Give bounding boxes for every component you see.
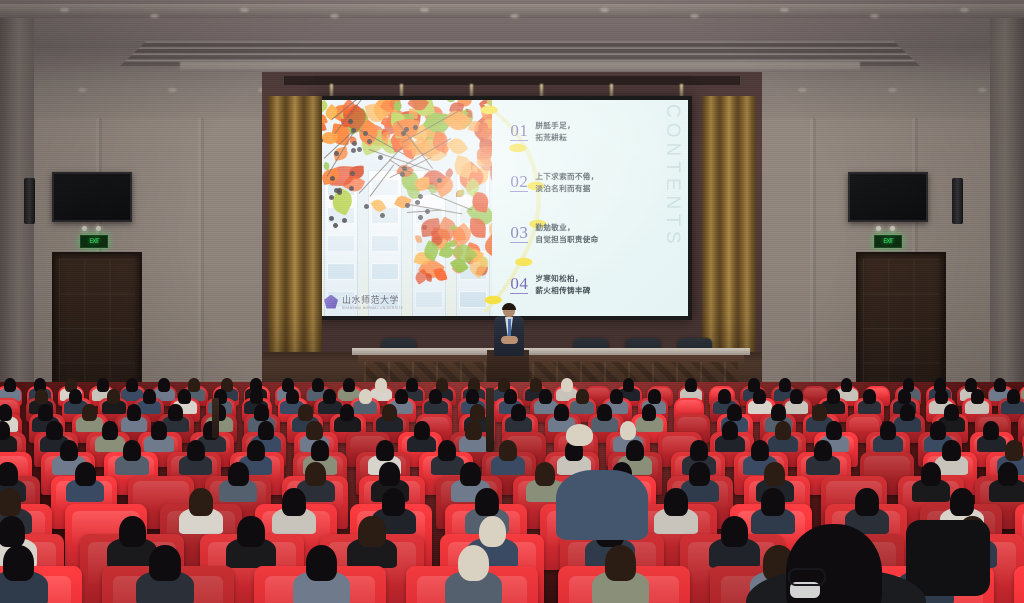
audience-person [343, 378, 355, 392]
exit-sign-right: EXIT [874, 235, 902, 248]
slide-berry [380, 213, 385, 218]
audience-person [143, 389, 156, 404]
agenda-item-01: 01胼胝手足， 拓荒耕耘 [510, 120, 662, 144]
audience-person [998, 462, 1019, 486]
audience-person [306, 545, 337, 581]
speaker-tie [508, 319, 511, 337]
audience-person [898, 389, 911, 404]
slide-berry [351, 128, 356, 133]
slide-building-window [416, 292, 442, 307]
slide-berry [402, 166, 407, 171]
slide-berry [351, 148, 356, 153]
wall-pilaster-right [990, 18, 1024, 430]
audience-person [38, 404, 53, 421]
slide-agenda-list: 01胼胝手足， 拓荒耕耘02上下求索而不倦， 淡泊名利而有据03勤勉敬业， 自觉… [510, 106, 662, 310]
audience-person [753, 389, 766, 404]
slide-berry [329, 216, 334, 221]
ceiling-downlight [780, 8, 789, 12]
audience-person [3, 545, 34, 581]
audience-person [827, 389, 840, 404]
audience-person [395, 389, 408, 404]
audience-person [189, 488, 213, 516]
agenda-number: 02 [510, 173, 528, 192]
eyeglasses-icon [788, 568, 826, 586]
audience-person [863, 389, 876, 404]
door-panel-grid [59, 259, 135, 397]
audience-person [814, 440, 832, 461]
slide-building-window [372, 236, 398, 251]
slide-berry [425, 209, 430, 214]
audience-person [376, 440, 394, 461]
speaker-hands [501, 336, 518, 344]
agenda-number: 03 [510, 224, 528, 243]
audience-backpack [906, 520, 990, 596]
audience-person [305, 462, 326, 486]
audience-person [610, 389, 623, 404]
audience-person [127, 404, 142, 421]
audience-person [605, 545, 636, 581]
audience-person [664, 488, 688, 516]
audience-person [0, 488, 21, 516]
slide-berry [333, 223, 338, 228]
slide-building-window [328, 264, 354, 279]
audience-person [358, 516, 385, 548]
wall-speaker-right [952, 178, 963, 224]
audience-person [312, 378, 324, 392]
audience-person [930, 421, 946, 440]
ceiling-downlight [888, 88, 897, 92]
audience-person [576, 389, 589, 404]
audience-person [97, 378, 109, 392]
slide-berry [349, 186, 354, 191]
audience-person [306, 421, 322, 440]
audience-person [1005, 440, 1023, 461]
slide-maple-leaf [392, 100, 403, 111]
stage-light-bar [284, 76, 740, 85]
audience-person [46, 421, 62, 440]
audience-person [458, 545, 489, 581]
audience-person [718, 389, 731, 404]
slide-berry [418, 194, 423, 199]
audience-person [340, 404, 355, 421]
audience-person [149, 545, 180, 581]
audience-person [237, 516, 264, 548]
audience-person [151, 421, 167, 440]
audience-person [648, 389, 661, 404]
audience-person [841, 378, 853, 392]
audience-person [620, 421, 636, 440]
audience-person [690, 440, 708, 461]
slide-berry [405, 203, 410, 208]
wall-pilaster-left [0, 18, 34, 430]
wall-sconce-left [96, 226, 101, 231]
audience-bucket-hat [566, 424, 593, 446]
ceiling-downlight [60, 8, 69, 12]
wall-sconce-right [876, 226, 881, 231]
audience-person [971, 389, 984, 404]
slide-timeline-dot [480, 106, 497, 114]
wall-tv-left [52, 172, 132, 222]
contents-watermark: CONTENTS [661, 104, 683, 249]
audience-person [479, 516, 506, 548]
agenda-text: 胼胝手足， 拓荒耕耘 [535, 120, 574, 144]
audience-person [282, 488, 306, 516]
slide-berry [357, 147, 362, 152]
ceiling-downlight [168, 88, 177, 92]
slide-berry [400, 172, 405, 177]
audience-person [465, 421, 481, 440]
audience-person [900, 404, 915, 421]
projection-screen: 山水师范大学 SHANSHUI NORMAL UNIVERSITY CONTEN… [318, 100, 688, 316]
audience-person [942, 440, 960, 461]
audience-person [790, 389, 803, 404]
audience-person [254, 404, 269, 421]
audience-person [406, 378, 418, 392]
audience-person [0, 462, 18, 486]
agenda-number: 01 [510, 122, 528, 141]
audience-person [935, 389, 948, 404]
audience-person [60, 440, 78, 461]
projection-screen-frame: 山水师范大学 SHANSHUI NORMAL UNIVERSITY CONTEN… [314, 96, 692, 320]
audience-person [623, 378, 635, 392]
audience-person [460, 462, 481, 486]
slide-berry [334, 151, 339, 156]
audience-person [597, 404, 612, 421]
audience-person [475, 488, 499, 516]
audience-person [771, 404, 786, 421]
audience-denim-jacket [556, 470, 648, 540]
audience-person [0, 516, 25, 548]
audience-person [499, 440, 517, 461]
ceiling-downlight [798, 88, 807, 92]
slide-berry [367, 139, 372, 144]
ceiling-soffit [180, 62, 860, 70]
audience-person [158, 378, 170, 392]
audience-person [247, 440, 265, 461]
audience-person [727, 404, 742, 421]
audience-person [382, 488, 406, 516]
ceiling-downlight [150, 14, 159, 18]
audience-person [126, 378, 138, 392]
audience-person [438, 440, 456, 461]
audience-person [1007, 389, 1020, 404]
audience-person [944, 404, 959, 421]
audience-person [561, 378, 573, 392]
ceiling-downlight [600, 8, 609, 12]
audience-person [0, 404, 12, 421]
agenda-text: 岁寒知松柏， 薪火相传铸丰碑 [535, 273, 590, 297]
wall-sconce-right [890, 226, 895, 231]
audience-person [921, 462, 942, 486]
audience-person [323, 389, 336, 404]
audience-person [626, 440, 644, 461]
audience-person [812, 404, 827, 421]
slide-timeline-dot [484, 296, 501, 304]
slide-berry [330, 176, 335, 181]
audience-person [994, 378, 1006, 392]
slide-berry [342, 218, 347, 223]
university-name-latin: SHANSHUI NORMAL UNIVERSITY [342, 306, 403, 310]
exit-sign-label: EXIT [883, 239, 892, 245]
audience-person [119, 516, 146, 548]
audience-person [511, 404, 526, 421]
aisle-rail [486, 388, 494, 452]
audience-person [764, 462, 785, 486]
ceiling-downlight [960, 8, 969, 12]
auditorium-photo: 山水师范大学 SHANSHUI NORMAL UNIVERSITY CONTEN… [0, 0, 1024, 603]
audience-person [258, 421, 274, 440]
slide-berry [350, 171, 355, 176]
head-table-top [352, 348, 750, 355]
audience-person [168, 404, 183, 421]
audience-person [4, 378, 16, 392]
audience-person [311, 440, 329, 461]
slide-berry [378, 155, 383, 160]
audience-person [375, 378, 387, 392]
ceiling-downlight [978, 88, 987, 92]
agenda-text: 勤勉敬业， 自觉担当职责使命 [535, 222, 598, 246]
audience-person [228, 462, 249, 486]
slide-berry [363, 131, 368, 136]
ceiling-downlight [690, 14, 699, 18]
audience-person [775, 421, 791, 440]
audience-person [187, 440, 205, 461]
exit-sign-left: EXIT [80, 235, 108, 248]
agenda-item-02: 02上下求索而不倦， 淡泊名利而有据 [510, 171, 662, 195]
ceiling-downlight [240, 8, 249, 12]
audience-person [178, 389, 191, 404]
audience-person [429, 389, 442, 404]
audience-person [107, 389, 120, 404]
audience-person [950, 488, 974, 516]
slide-university-logo: 山水师范大学 SHANSHUI NORMAL UNIVERSITY [324, 293, 403, 310]
audience-person [642, 404, 657, 421]
audience-person [69, 389, 82, 404]
ceiling-downlight [330, 14, 339, 18]
audience-person [250, 389, 263, 404]
audience-person [983, 421, 999, 440]
audience-person [880, 421, 896, 440]
slide-berry [352, 141, 357, 146]
ceiling-downlight [870, 14, 879, 18]
wall-speaker-left [24, 178, 35, 224]
agenda-item-03: 03勤勉敬业， 自觉担当职责使命 [510, 222, 662, 246]
audience-person [504, 389, 517, 404]
audience-person [414, 421, 430, 440]
audience-person [470, 404, 485, 421]
wall-sconce-left [82, 226, 87, 231]
ceiling-downlight [420, 8, 429, 12]
wall-tv-right [848, 172, 928, 222]
audience-person [751, 440, 769, 461]
audience-person [554, 404, 569, 421]
slide-building-window [372, 264, 398, 279]
ceiling-downlight [510, 14, 519, 18]
speaker-hair [502, 303, 516, 310]
aisle-rail [212, 398, 219, 438]
audience-seat [1014, 566, 1024, 603]
audience-person [188, 378, 200, 392]
audience-person [826, 421, 842, 440]
speaker-presenter [492, 304, 526, 356]
audience-person [359, 389, 372, 404]
agenda-item-04: 04岁寒知松柏， 薪火相传铸丰碑 [510, 273, 662, 297]
audience-person [123, 440, 141, 461]
stage-curtain-left [268, 96, 322, 388]
audience-person [779, 378, 791, 392]
ceiling-downlight [78, 88, 87, 92]
slide-berry [404, 127, 409, 132]
audience-person [721, 516, 748, 548]
audience-person [102, 421, 118, 440]
audience-person [75, 462, 96, 486]
audience-person [82, 404, 97, 421]
slide-berry [437, 178, 442, 183]
audience-person [466, 389, 479, 404]
university-name: 山水师范大学 [342, 293, 403, 306]
audience-person [761, 488, 785, 516]
audience-person [298, 404, 313, 421]
slide-building-window [328, 236, 354, 251]
exit-sign-label: EXIT [89, 239, 98, 245]
agenda-text: 上下求索而不倦， 淡泊名利而有据 [535, 171, 598, 195]
audience-person [855, 488, 879, 516]
audience-person [539, 389, 552, 404]
audience-person [685, 378, 697, 392]
agenda-number: 04 [510, 275, 528, 294]
university-crest-icon [324, 295, 338, 309]
audience-person [722, 421, 738, 440]
audience-person [382, 404, 397, 421]
audience-person [689, 462, 710, 486]
audience-person [535, 462, 556, 486]
door-panel-grid [863, 259, 939, 397]
audience-person [286, 389, 299, 404]
slide-photo-autumn-leaves: 山水师范大学 SHANSHUI NORMAL UNIVERSITY [318, 100, 492, 316]
audience-person [379, 462, 400, 486]
audience-person [35, 389, 48, 404]
